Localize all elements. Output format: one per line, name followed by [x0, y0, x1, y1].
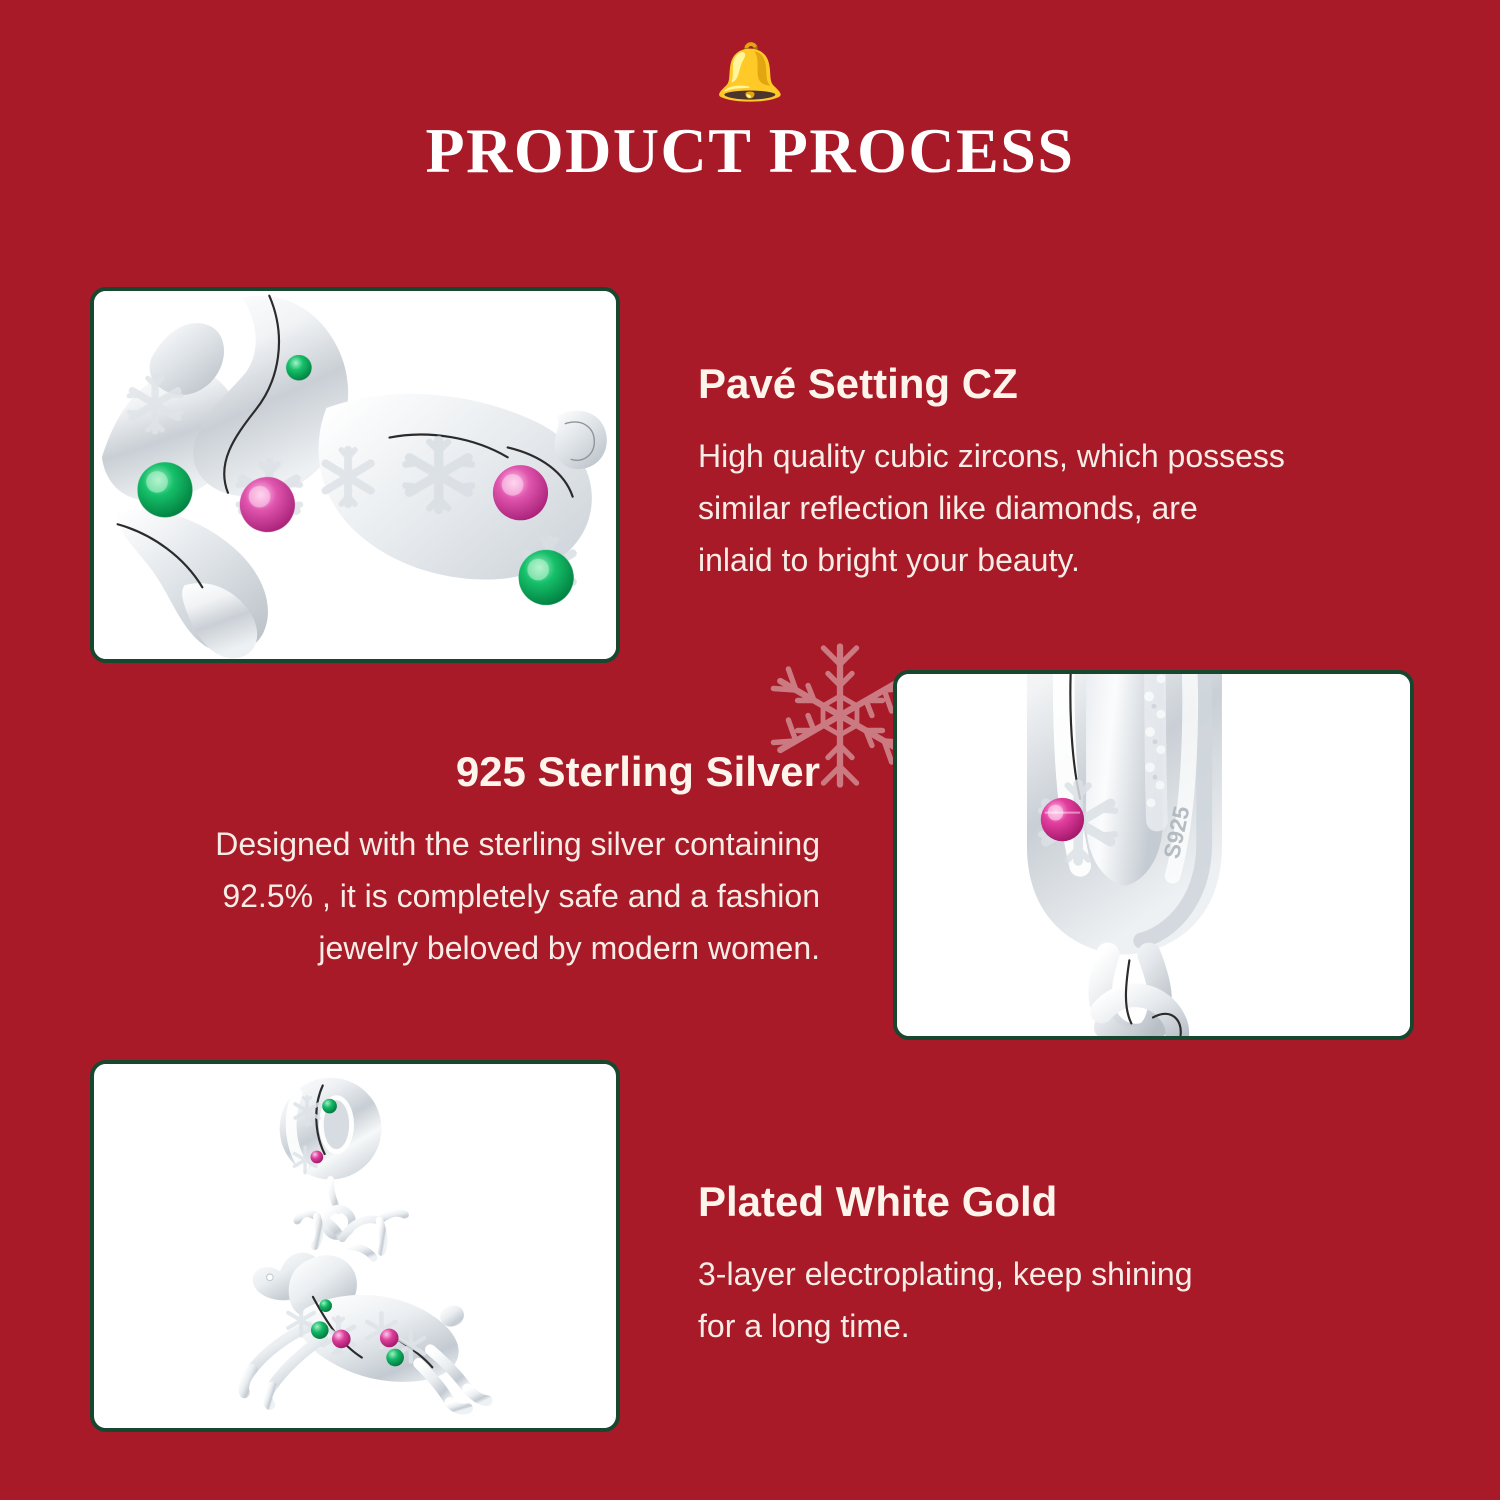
- feature-title-pave: Pavé Setting CZ: [698, 360, 1285, 408]
- feature-body-line: similar reflection like diamonds, are: [698, 482, 1285, 534]
- feature-body-line: Designed with the sterling silver contai…: [155, 818, 820, 870]
- photo-card-pave-closeup: [90, 287, 620, 663]
- feature-body-line: jewelry beloved by modern women.: [155, 922, 820, 974]
- gem-pink-left: [240, 477, 295, 532]
- feature-title-plated: Plated White Gold: [698, 1178, 1193, 1226]
- feature-body-pave: High quality cubic zircons, which posses…: [698, 430, 1285, 586]
- page-header: 🔔 PRODUCT PROCESS: [0, 0, 1500, 186]
- gem-emerald-small: [286, 355, 312, 381]
- gem-emerald-right: [518, 550, 573, 605]
- feature-body-line: 3-layer electroplating, keep shining: [698, 1248, 1193, 1300]
- feature-body-plated: 3-layer electroplating, keep shining for…: [698, 1248, 1193, 1352]
- feature-body-sterling: Designed with the sterling silver contai…: [155, 818, 820, 974]
- feature-925-sterling-silver: 925 Sterling Silver Designed with the st…: [155, 748, 820, 974]
- feature-body-line: inlaid to bright your beauty.: [698, 534, 1285, 586]
- feature-pave-setting-cz: Pavé Setting CZ High quality cubic zirco…: [698, 360, 1285, 586]
- gem-pink-bail: [1041, 798, 1084, 841]
- photo-card-full-pendant: [90, 1060, 620, 1432]
- full-pendant-image: [94, 1064, 616, 1428]
- bells-icon: 🔔: [0, 44, 1500, 106]
- pave-closeup-image: [94, 291, 616, 659]
- feature-body-line: High quality cubic zircons, which posses…: [698, 430, 1285, 482]
- feature-title-sterling: 925 Sterling Silver: [155, 748, 820, 796]
- gem-emerald-large: [137, 462, 192, 517]
- bail-closeup-image: S925: [897, 674, 1410, 1036]
- feature-body-line: for a long time.: [698, 1300, 1193, 1352]
- photo-card-bail-closeup: S925: [893, 670, 1414, 1040]
- bail-bead: [280, 1078, 382, 1180]
- feature-plated-white-gold: Plated White Gold 3-layer electroplating…: [698, 1178, 1193, 1352]
- gem-pink-right: [493, 465, 548, 520]
- page-title: PRODUCT PROCESS: [0, 116, 1500, 186]
- feature-body-line: 92.5% , it is completely safe and a fash…: [155, 870, 820, 922]
